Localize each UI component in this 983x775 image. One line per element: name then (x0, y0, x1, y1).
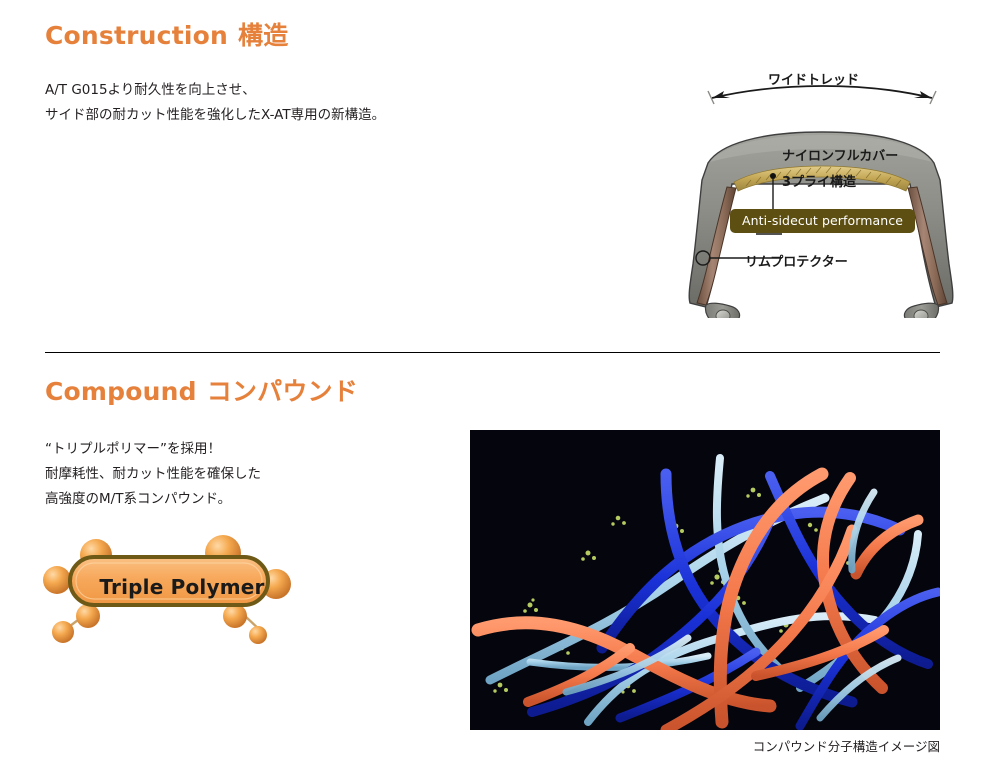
callout-rim-protector: リムプロテクター (745, 251, 848, 270)
construction-section-heading: Construction構造 (45, 16, 288, 52)
callout-wide-tread: ワイドトレッド (768, 69, 859, 88)
left-bead-core (716, 310, 730, 318)
compound-molecular-image (470, 430, 940, 730)
compound-heading-en: Compound (45, 377, 197, 406)
right-bead-core (914, 310, 928, 318)
construction-body-text: A/T G015より耐久性を向上させ、 サイド部の耐カット性能を強化したX-AT… (45, 78, 465, 128)
wide-tread-arrow (708, 86, 936, 104)
compound-image-caption: コンパウンド分子構造イメージ図 (470, 736, 940, 755)
construction-heading-en: Construction (45, 21, 228, 50)
construction-heading-jp: 構造 (238, 21, 288, 50)
compound-molecular-svg (470, 430, 940, 730)
compound-section-heading: Compoundコンパウンド (45, 372, 358, 408)
callout-three-ply: 3プライ構造 (782, 171, 856, 190)
compound-body-text: “トリプルポリマー”を採用！ 耐摩耗性、耐カット性能を確保した 高強度のM/T系… (45, 437, 445, 512)
anti-sidecut-performance-badge: Anti-sidecut performance (730, 209, 915, 233)
callout-nylon-full-cover: ナイロンフルカバー (782, 145, 898, 164)
triple-polymer-graphic: Triple Polymer (30, 522, 330, 652)
triple-polymer-pill (70, 557, 268, 605)
triple-polymer-svg (30, 522, 330, 652)
section-divider (45, 352, 940, 353)
compound-heading-jp: コンパウンド (207, 377, 358, 406)
page-root: Construction構造 A/T G015より耐久性を向上させ、 サイド部の… (0, 0, 983, 775)
